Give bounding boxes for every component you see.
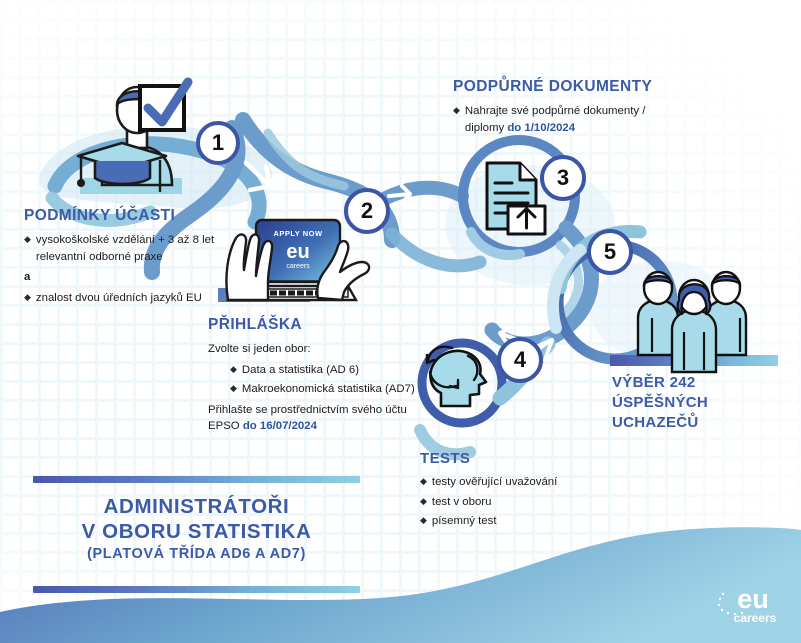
bullet-icon: ◆: [420, 494, 427, 509]
bullet-icon: ◆: [230, 381, 237, 396]
eu-logo-main-text: eu: [737, 584, 769, 614]
step-4-heading: TESTS: [420, 450, 620, 467]
laptop-careers-logo-text: careers: [286, 263, 310, 270]
step-2-option-1-text: Data a statistika (AD 6): [242, 362, 359, 379]
step-5-textblock: VÝBĚR 242 ÚSPĚŠNÝCH UCHAZEČŮ: [612, 373, 792, 432]
footer-band-bottom: [33, 586, 360, 593]
step-4-bullet-1-text: testy ověřující uvažování: [432, 474, 557, 491]
footer-title-line-1: ADMINISTRÁTOŘI: [8, 494, 385, 519]
step-1-bullet-1: ◆ vysokoškolské vzdělání + 3 až 8 let re…: [24, 232, 249, 265]
bullet-icon: ◆: [420, 513, 427, 528]
step-circle-3-number: 3: [557, 165, 569, 191]
step-1-conjunction: a: [24, 269, 249, 286]
step-2-option-2-text: Makroekonomická statistika (AD7): [242, 381, 415, 398]
step-2-deadline: do 16/07/2024: [243, 420, 317, 432]
step-3-bullet-1: ◆ Nahrajte své podpůrné dokumenty / dipl…: [453, 103, 668, 136]
step-3-deadline: do 1/10/2024: [507, 122, 575, 134]
step-circle-5[interactable]: 5: [587, 229, 633, 275]
step-2-heading: PŘIHLÁŠKA: [208, 316, 418, 334]
step-1-bullet-2-text: znalost dvou úředních jazyků EU: [36, 290, 202, 307]
step-circle-5-number: 5: [604, 239, 616, 265]
step-4-bullet-3: ◆ písemný test: [420, 513, 620, 530]
footer-title-line-2: V OBORU STATISTIKA: [8, 519, 385, 544]
step-4-bullet-1: ◆ testy ověřující uvažování: [420, 474, 620, 491]
step-circle-3[interactable]: 3: [540, 155, 586, 201]
bullet-icon: ◆: [420, 474, 427, 489]
bullet-icon: ◆: [230, 362, 237, 377]
footer-title-line-3: (PLATOVÁ TŘÍDA AD6 A AD7): [8, 544, 385, 566]
step-1-bullet-1-text: vysokoškolské vzdělání + 3 až 8 let rele…: [36, 232, 249, 265]
step-5-heading-line-2: UCHAZEČŮ: [612, 413, 792, 433]
step-5-heading-line-1: VÝBĚR 242 ÚSPĚŠNÝCH: [612, 373, 792, 413]
bullet-icon: ◆: [453, 103, 460, 118]
eu-logo-sub-text: careers: [734, 611, 777, 625]
eu-careers-logo: eu careers: [713, 580, 791, 628]
step-circle-2-number: 2: [361, 198, 373, 224]
step-circle-1-number: 1: [212, 130, 224, 156]
step-circle-4[interactable]: 4: [497, 337, 543, 383]
step-3-heading: PODPŮRNÉ DOKUMENTY: [453, 78, 668, 96]
step-4-bullet-2-text: test v oboru: [432, 494, 492, 511]
step-2-option-1: ◆ Data a statistika (AD 6): [230, 362, 418, 379]
step-1-heading: PODMÍNKY ÚČASTI: [24, 207, 249, 225]
step-2-option-2: ◆ Makroekonomická statistika (AD7): [230, 381, 418, 398]
step-circle-1[interactable]: 1: [196, 121, 240, 165]
step-circle-4-number: 4: [514, 347, 526, 373]
bullet-icon: ◆: [24, 232, 31, 247]
footer-band-top: [33, 476, 360, 483]
step-4-textblock: TESTS ◆ testy ověřující uvažování ◆ test…: [420, 450, 620, 533]
bullet-icon: ◆: [24, 290, 31, 305]
laptop-eu-logo-text: eu: [286, 241, 309, 263]
step-4-bullet-3-text: písemný test: [432, 513, 497, 530]
step-1-bullet-2: ◆ znalost dvou úředních jazyků EU: [24, 290, 249, 307]
laptop-apply-now-text: APPLY NOW: [273, 229, 323, 238]
step-3-bullet-1-text: Nahrajte své podpůrné dokumenty / diplom…: [465, 103, 668, 136]
step-2-intro: Zvolte si jeden obor:: [208, 341, 418, 358]
step-3-textblock: PODPŮRNÉ DOKUMENTY ◆ Nahrajte své podpůr…: [453, 78, 668, 139]
step-circle-2[interactable]: 2: [344, 188, 390, 234]
step-4-bullet-2: ◆ test v oboru: [420, 494, 620, 511]
infographic-canvas: APPLY NOW eu careers: [0, 0, 801, 643]
step-1-textblock: PODMÍNKY ÚČASTI ◆ vysokoškolské vzdělání…: [24, 207, 249, 309]
step-2-outro: Přihlašte se prostřednictvím svého účtu …: [208, 402, 418, 435]
step-2-textblock: PŘIHLÁŠKA Zvolte si jeden obor: ◆ Data a…: [208, 316, 418, 439]
footer-title: ADMINISTRÁTOŘI V OBORU STATISTIKA (PLATO…: [8, 494, 385, 566]
